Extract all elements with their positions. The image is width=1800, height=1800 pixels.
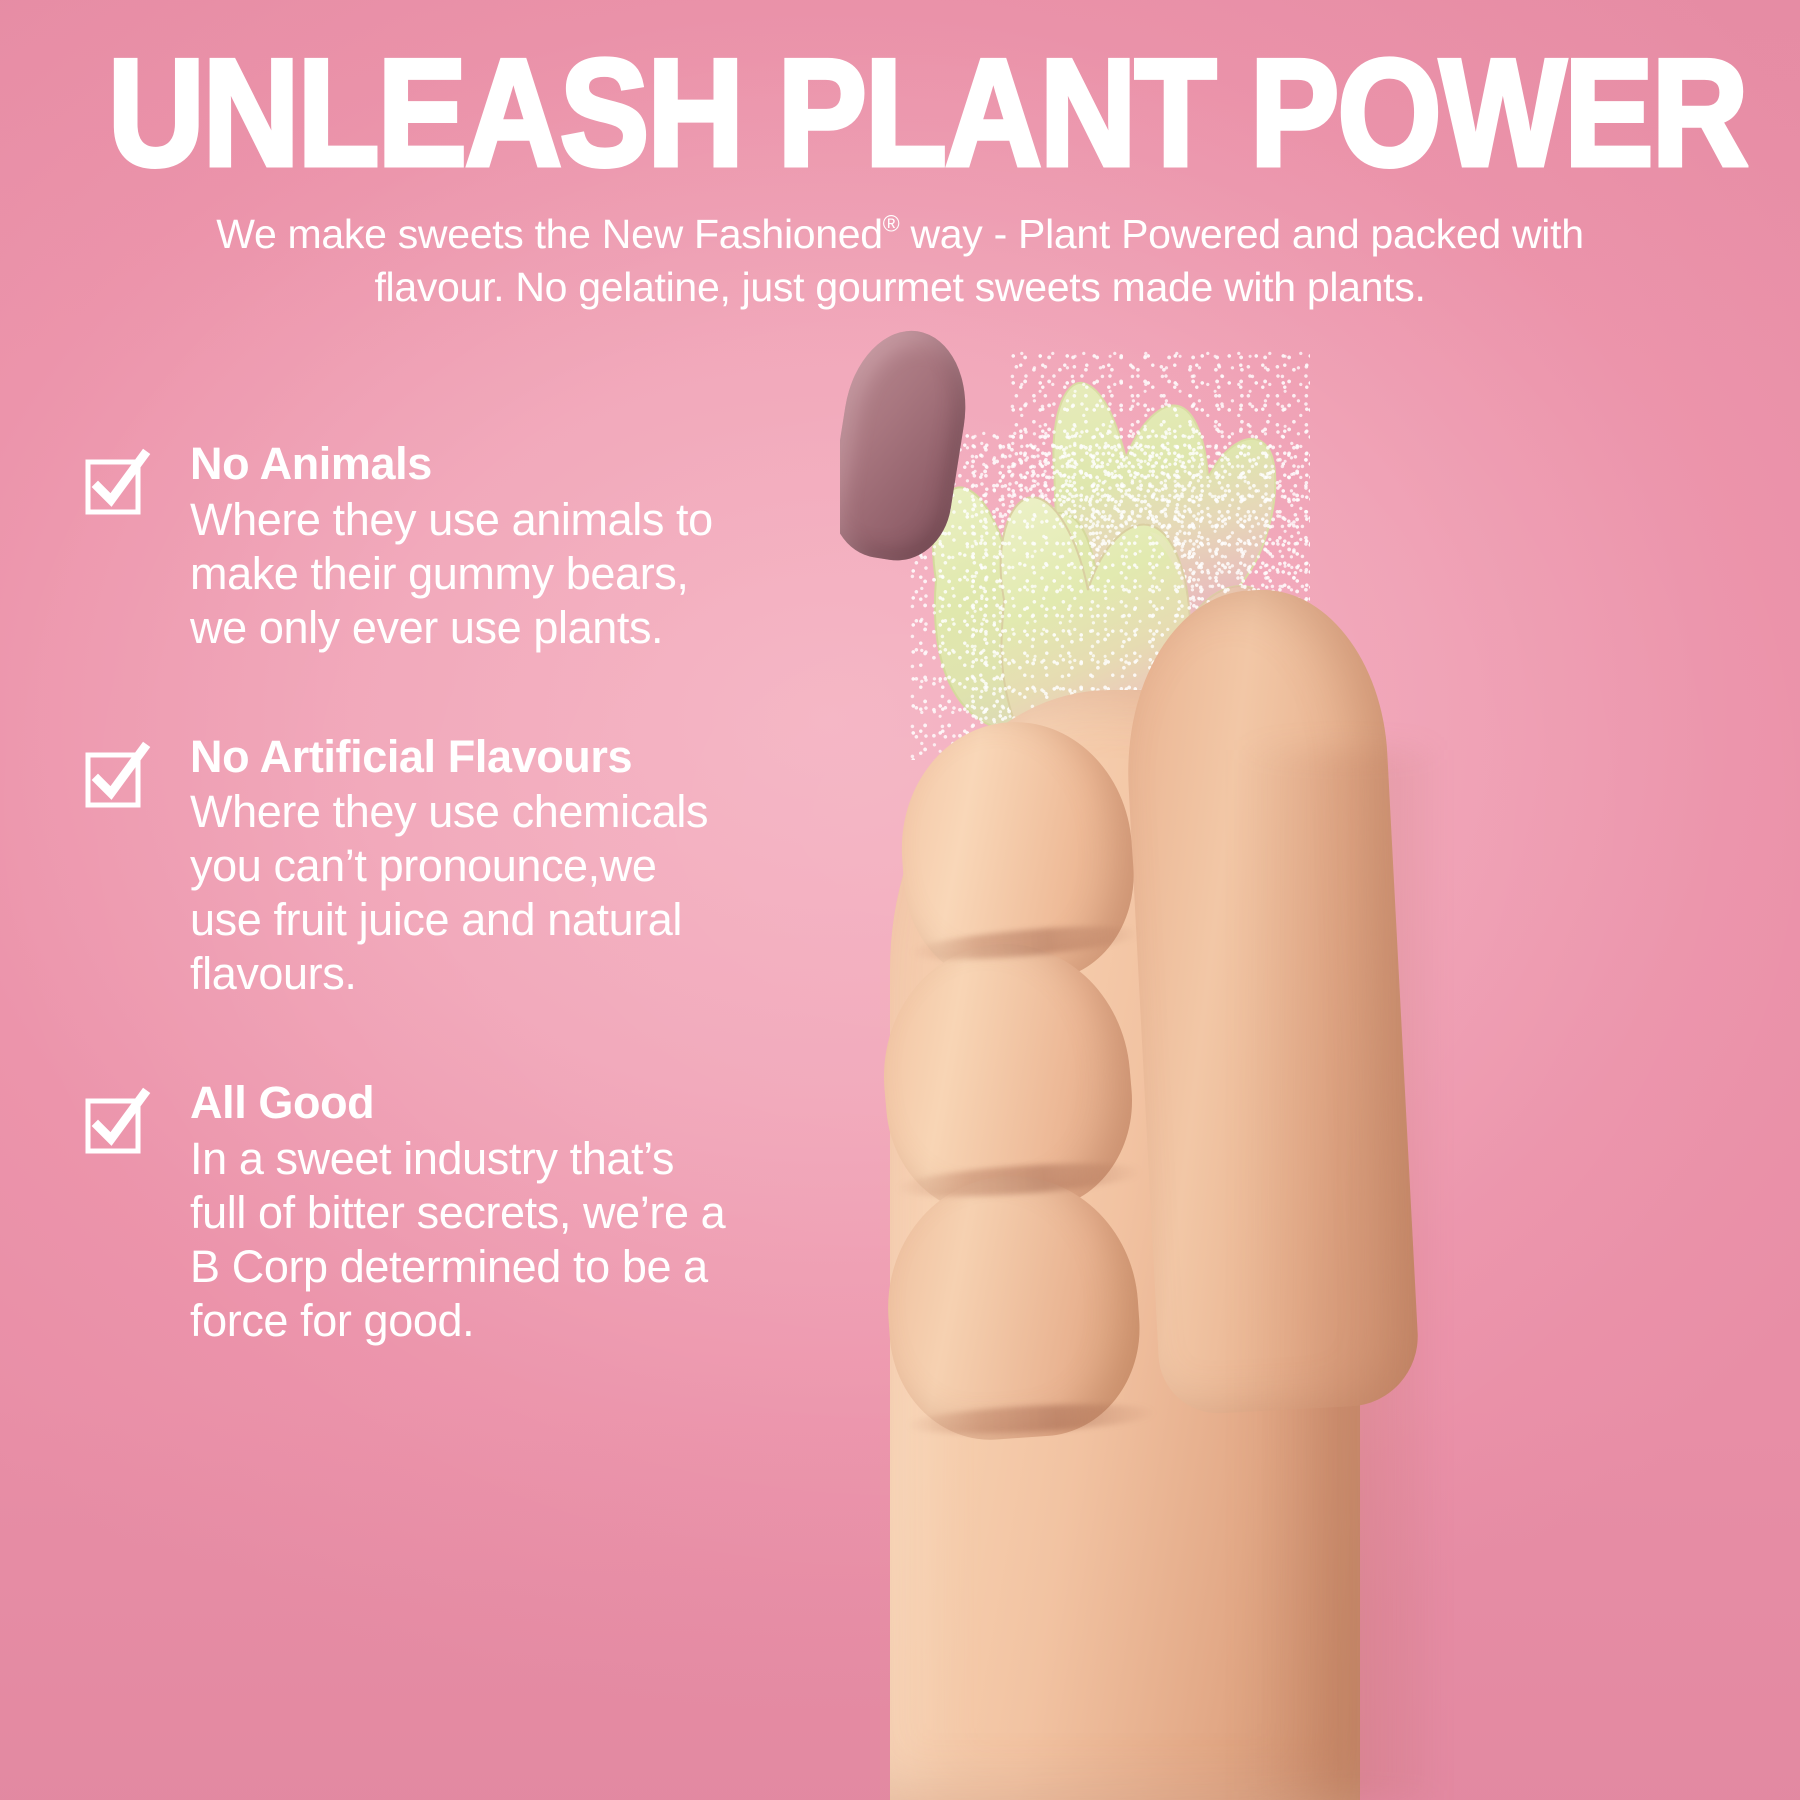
list-item-title: No Animals xyxy=(190,440,844,489)
body-line: Where they use animals to xyxy=(190,493,844,547)
body-line: you can’t pronounce,we xyxy=(190,839,844,893)
fingernail xyxy=(840,330,977,568)
body-line: In a sweet industry that’s xyxy=(190,1132,844,1186)
body-line: B Corp determined to be a xyxy=(190,1240,844,1294)
feature-list: No Animals Where they use animals to mak… xyxy=(84,440,844,1348)
list-item-title: All Good xyxy=(190,1079,844,1128)
checkbox-checked-icon xyxy=(84,1093,146,1155)
product-photo xyxy=(840,330,1800,1800)
hand-shading xyxy=(1240,750,1430,1800)
checkbox-checked-icon xyxy=(84,454,146,516)
body-line: Where they use chemicals xyxy=(190,785,844,839)
body-line: we only ever use plants. xyxy=(190,601,844,655)
subtitle: We make sweets the New Fashioned® way - … xyxy=(190,208,1610,315)
list-item-body: Where they use chemicals you can’t prono… xyxy=(190,785,844,1001)
subtitle-part-1: We make sweets the New Fashioned xyxy=(216,211,882,257)
list-item-body: In a sweet industry that’s full of bitte… xyxy=(190,1132,844,1348)
registered-trademark-icon: ® xyxy=(883,210,900,236)
hand xyxy=(840,330,1800,1800)
subtitle-part-2: way - Plant Powered and packed xyxy=(899,211,1501,257)
body-line: use fruit juice and natural xyxy=(190,893,844,947)
body-line: full of bitter secrets, we’re a xyxy=(190,1186,844,1240)
list-item-title: No Artificial Flavours xyxy=(190,733,844,782)
body-line: flavours. xyxy=(190,947,844,1001)
body-line: force for good. xyxy=(190,1294,844,1348)
body-line: make their gummy bears, xyxy=(190,547,844,601)
checkbox-checked-icon xyxy=(84,747,146,809)
list-item-body: Where they use animals to make their gum… xyxy=(190,493,844,655)
page-title: UNLEASH PLANT POWER xyxy=(108,44,1692,184)
list-item: No Artificial Flavours Where they use ch… xyxy=(84,733,844,1002)
list-item: No Animals Where they use animals to mak… xyxy=(84,440,844,655)
list-item: All Good In a sweet industry that’s full… xyxy=(84,1079,844,1348)
